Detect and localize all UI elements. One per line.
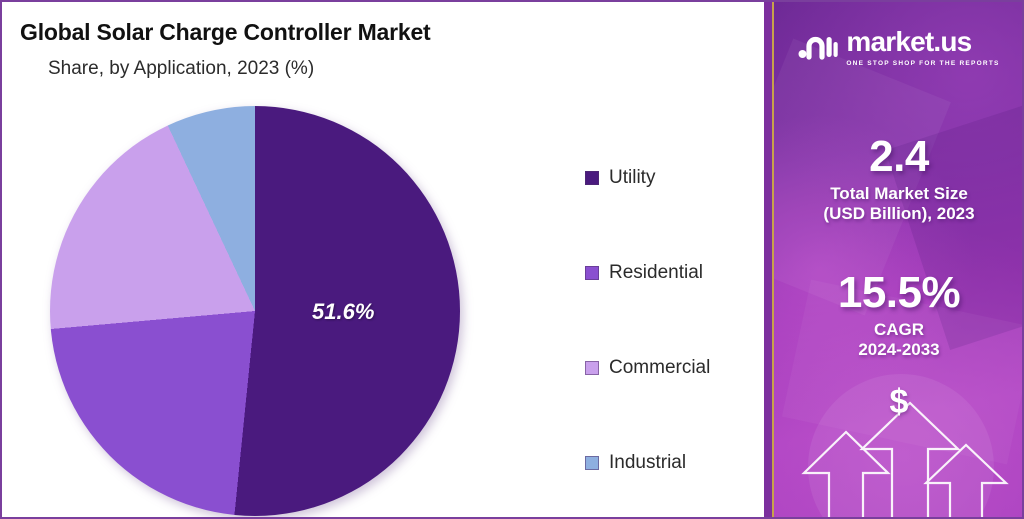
legend-item-residential[interactable]: Residential: [585, 225, 755, 320]
stat-caption: CAGR 2024-2033: [774, 320, 1024, 360]
stat-cagr: 15.5% CAGR 2024-2033: [774, 270, 1024, 360]
page-title: Global Solar Charge Controller Market: [20, 19, 431, 46]
legend-swatch-icon: [585, 361, 599, 375]
legend-swatch-icon: [585, 266, 599, 280]
pie-slice-label-utility: 51.6%: [312, 299, 374, 325]
stat-caption-line-2: (USD Billion), 2023: [774, 204, 1024, 224]
bar-chart-logo-icon: [798, 30, 838, 65]
stats-panel: market.us ONE STOP SHOP FOR THE REPORTS …: [764, 2, 1024, 517]
stat-value: 2.4: [774, 134, 1024, 180]
legend-item-label: Industrial: [609, 452, 686, 474]
growth-arrows-graphic: $: [774, 377, 1024, 517]
legend-swatch-icon: [585, 456, 599, 470]
legend-item-industrial[interactable]: Industrial: [585, 415, 755, 510]
stat-caption-line-2: 2024-2033: [774, 340, 1024, 360]
brand-logo: market.us ONE STOP SHOP FOR THE REPORTS: [774, 28, 1024, 67]
pie-slices: [50, 106, 460, 516]
stat-caption-line-1: Total Market Size: [774, 184, 1024, 204]
chart-subtitle: Share, by Application, 2023 (%): [48, 58, 314, 80]
infographic-root: Global Solar Charge Controller Market Sh…: [0, 0, 1024, 519]
brand-logo-text: market.us ONE STOP SHOP FOR THE REPORTS: [846, 28, 999, 67]
stats-panel-background: market.us ONE STOP SHOP FOR THE REPORTS …: [772, 2, 1024, 517]
legend-item-label: Commercial: [609, 357, 710, 379]
chart-legend: UtilityResidentialCommercialIndustrial: [585, 130, 755, 510]
legend-swatch-icon: [585, 171, 599, 185]
chart-panel: Global Solar Charge Controller Market Sh…: [2, 2, 764, 517]
legend-item-label: Residential: [609, 262, 703, 284]
legend-item-utility[interactable]: Utility: [585, 130, 755, 225]
pie-chart: 51.6%: [50, 106, 460, 516]
stat-caption: Total Market Size (USD Billion), 2023: [774, 184, 1024, 224]
stat-total-market-size: 2.4 Total Market Size (USD Billion), 202…: [774, 134, 1024, 224]
dollar-icon: $: [890, 385, 909, 419]
legend-item-commercial[interactable]: Commercial: [585, 320, 755, 415]
brand-name: market.us: [846, 28, 999, 56]
legend-item-label: Utility: [609, 167, 655, 189]
brand-tagline: ONE STOP SHOP FOR THE REPORTS: [846, 60, 999, 67]
stat-caption-line-1: CAGR: [774, 320, 1024, 340]
stat-value: 15.5%: [774, 270, 1024, 316]
